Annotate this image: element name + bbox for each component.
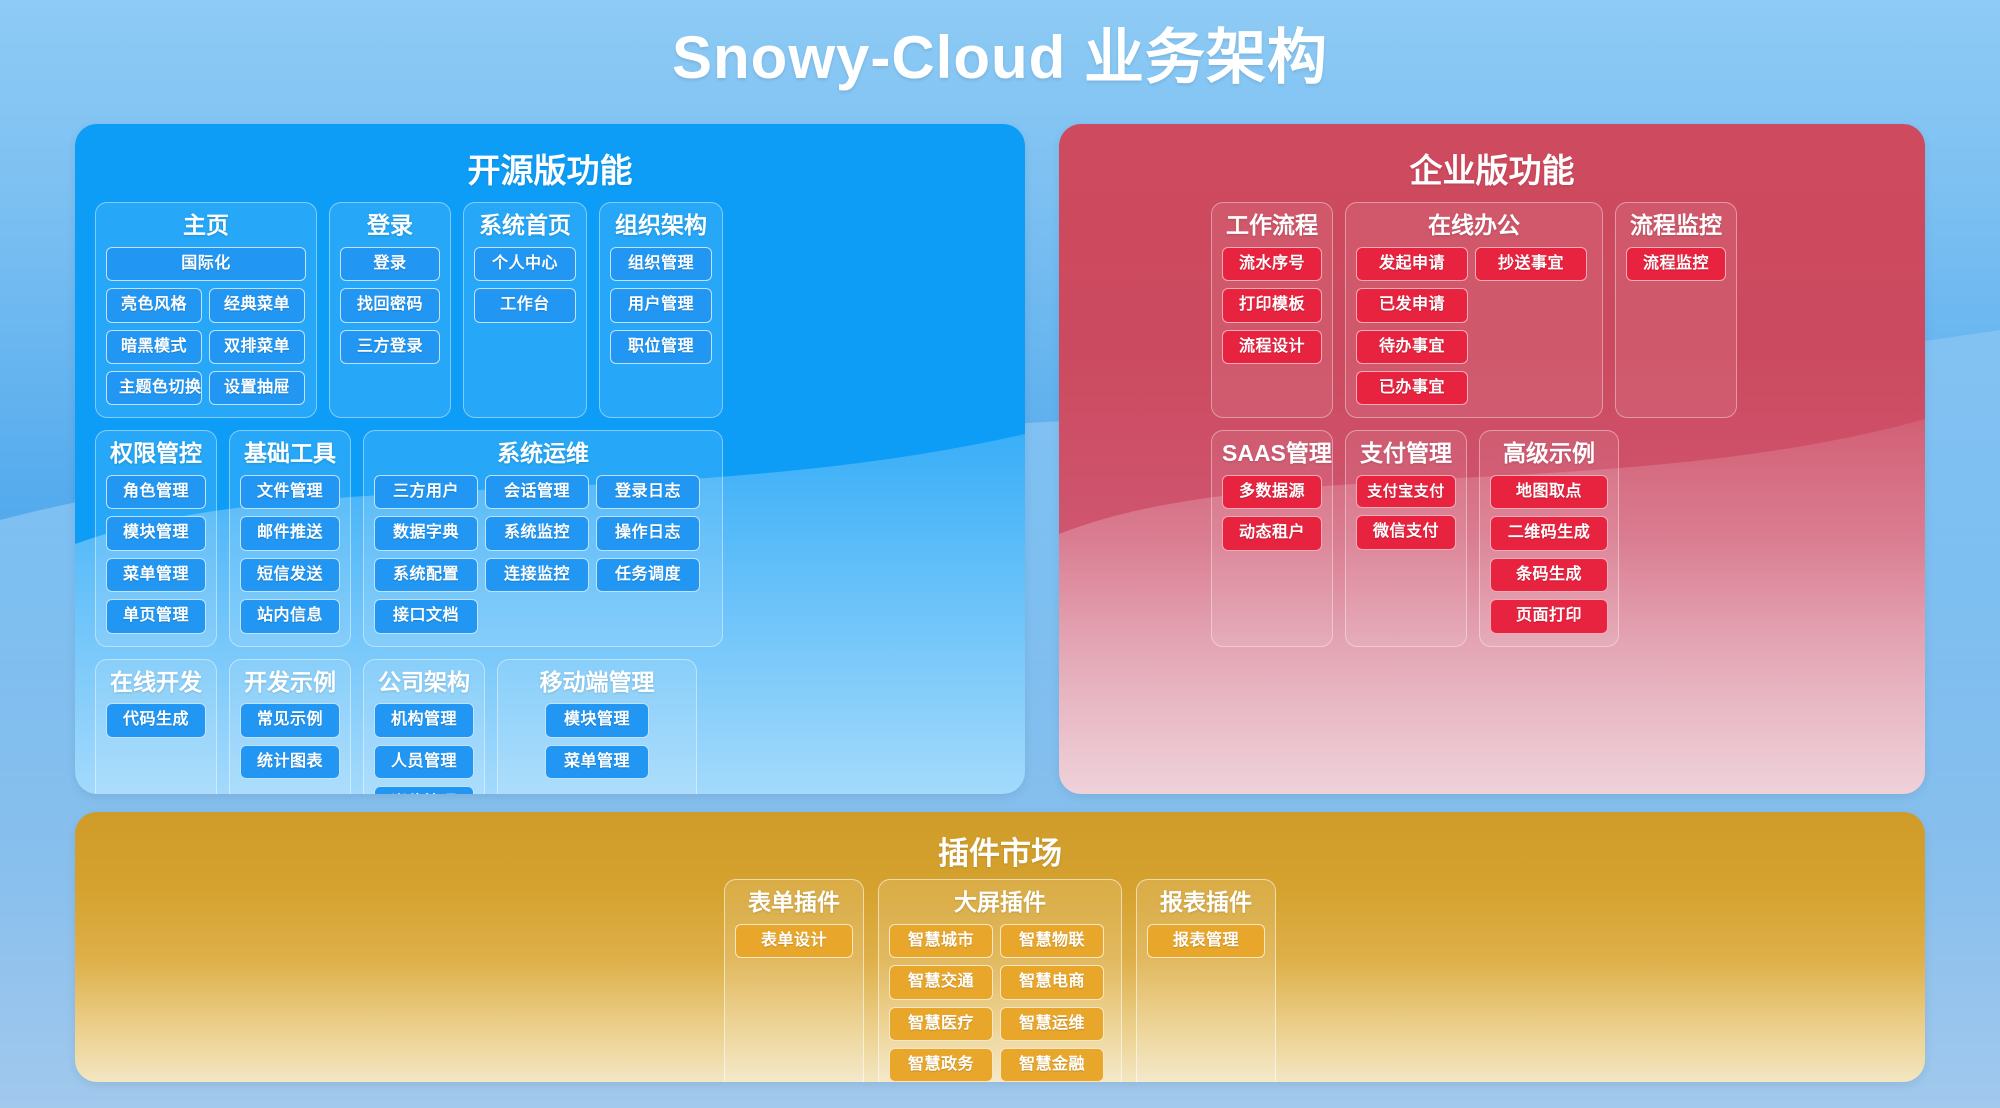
chip[interactable]: 角色管理 [106,475,206,509]
card-mobile-management: 移动端管理 模块管理 菜单管理 [497,659,697,794]
chip[interactable]: 智慧电商 [1000,965,1104,999]
enterprise-title: 企业版功能 [1059,124,1925,202]
chip[interactable]: 主题色切换 [106,371,202,405]
card-basic-tools: 基础工具 文件管理 邮件推送 短信发送 站内信息 [229,430,351,646]
chip-list: 三方用户 会话管理 登录日志 数据字典 系统监控 操作日志 系统配置 连接监控 … [374,475,712,634]
chip[interactable]: 支付宝支付 [1356,475,1456,508]
architecture-page: Snowy-Cloud 业务架构 开源版功能 主页 [0,0,2000,1108]
card-workflow: 工作流程 流水序号 打印模板 流程设计 [1211,202,1333,418]
chip[interactable]: 统计图表 [240,745,340,779]
chip[interactable]: 经典菜单 [209,288,305,322]
chip[interactable]: 待办事宜 [1356,330,1468,364]
chip[interactable]: 智慧运维 [1000,1007,1104,1041]
card-title: 主页 [106,211,306,240]
chip[interactable]: 人员管理 [374,745,474,779]
plugin-market-title: 插件市场 [75,812,1925,879]
card-company-structure: 公司架构 机构管理 人员管理 岗位管理 [363,659,485,794]
chip[interactable]: 站内信息 [240,599,340,633]
panel-open-source: 开源版功能 主页 国际化 亮色风格 经典菜单 暗黑模式 双排菜单 主题色切换 [75,124,1025,794]
chip[interactable]: 代码生成 [106,703,206,737]
chip-list: 支付宝支付 微信支付 [1356,475,1456,550]
card-title: 公司架构 [374,668,474,697]
chip-list: 常见示例 统计图表 [240,703,340,779]
enterprise-row-2: SAAS管理 多数据源 动态租户 支付管理 支付宝支付 微信支付 [1211,430,1845,646]
card-title: 支付管理 [1356,439,1456,468]
chip[interactable]: 机构管理 [374,703,474,737]
chip-list: 个人中心 工作台 [474,247,576,323]
open-source-row-3: 在线开发 代码生成 开发示例 常见示例 统计图表 公司架构 [95,659,1005,794]
card-home: 主页 国际化 亮色风格 经典菜单 暗黑模式 双排菜单 主题色切换 设置抽屉 [95,202,317,418]
chip[interactable]: 暗黑模式 [106,330,202,364]
chip[interactable]: 已办事宜 [1356,371,1468,405]
chip[interactable]: 连接监控 [485,558,589,592]
chip[interactable]: 已发申请 [1356,288,1468,322]
card-saas: SAAS管理 多数据源 动态租户 [1211,430,1333,646]
card-title: 登录 [340,211,440,240]
card-process-monitor: 流程监控 流程监控 [1615,202,1737,418]
chip[interactable]: 流程设计 [1222,330,1322,364]
chip[interactable]: 三方用户 [374,475,478,509]
chip-list: 地图取点 二维码生成 条码生成 页面打印 [1490,475,1608,634]
chip[interactable]: 接口文档 [374,599,478,633]
chip-list: 智慧城市 智慧物联 智慧交通 智慧电商 智慧医疗 智慧运维 智慧政务 智慧金融 [889,924,1111,1082]
card-organization: 组织架构 组织管理 用户管理 职位管理 [599,202,723,418]
chip[interactable]: 系统配置 [374,558,478,592]
chip-list: 报表管理 [1147,924,1265,958]
chip-list: 流水序号 打印模板 流程设计 [1222,247,1322,364]
card-title: 工作流程 [1222,211,1322,240]
chip[interactable]: 会话管理 [485,475,589,509]
chip[interactable]: 表单设计 [735,924,853,958]
chip-list: 角色管理 模块管理 菜单管理 单页管理 [106,475,206,634]
chip-list: 登录 找回密码 三方登录 [340,247,440,364]
chip[interactable]: 任务调度 [596,558,700,592]
chip[interactable]: 打印模板 [1222,288,1322,322]
card-title: 权限管控 [106,439,206,468]
chip[interactable]: 国际化 [106,247,306,281]
chip[interactable]: 模块管理 [106,516,206,550]
card-online-office: 在线办公 发起申请 抄送事宜 已发申请 待办事宜 已办事宜 [1345,202,1603,418]
card-bigscreen-plugin: 大屏插件 智慧城市 智慧物联 智慧交通 智慧电商 智慧医疗 智慧运维 智慧政务 … [878,879,1122,1082]
card-title: SAAS管理 [1222,439,1322,468]
chip[interactable]: 登录 [340,247,440,281]
chip[interactable]: 智慧城市 [889,924,993,958]
chip[interactable]: 微信支付 [1356,515,1456,549]
plugin-market-groups: 表单插件 表单设计 大屏插件 智慧城市 智慧物联 智慧交通 智慧电商 智慧医疗 … [75,879,1925,1082]
card-title: 在线开发 [106,668,206,697]
chip[interactable]: 地图取点 [1490,475,1608,509]
card-title: 系统运维 [374,439,712,468]
chip[interactable]: 职位管理 [610,330,712,364]
card-title: 在线办公 [1356,211,1592,240]
chip-list: 国际化 亮色风格 经典菜单 暗黑模式 双排菜单 主题色切换 设置抽屉 [106,247,306,406]
chip-list: 组织管理 用户管理 职位管理 [610,247,712,364]
chip[interactable]: 智慧金融 [1000,1048,1104,1082]
chip[interactable]: 用户管理 [610,288,712,322]
chip[interactable]: 设置抽屉 [209,371,305,405]
chip[interactable]: 短信发送 [240,558,340,592]
chip-list: 代码生成 [106,703,206,737]
chip-list: 文件管理 邮件推送 短信发送 站内信息 [240,475,340,634]
card-title: 组织架构 [610,211,712,240]
open-source-body: 主页 国际化 亮色风格 经典菜单 暗黑模式 双排菜单 主题色切换 设置抽屉 登录 [75,202,1025,794]
chip[interactable]: 抄送事宜 [1475,247,1587,281]
chip[interactable]: 智慧政务 [889,1048,993,1082]
chip[interactable]: 个人中心 [474,247,576,281]
chip[interactable]: 三方登录 [340,330,440,364]
card-title: 开发示例 [240,668,340,697]
chip-spacer [1475,330,1587,364]
chip[interactable]: 流程监控 [1626,247,1726,281]
chip[interactable]: 智慧医疗 [889,1007,993,1041]
chip-list: 表单设计 [735,924,853,958]
card-title: 报表插件 [1147,888,1265,917]
card-system-ops: 系统运维 三方用户 会话管理 登录日志 数据字典 系统监控 操作日志 系统配置 … [363,430,723,646]
chip-spacer [1475,288,1587,322]
card-title: 基础工具 [240,439,340,468]
open-source-title: 开源版功能 [75,124,1025,202]
card-dev-demo: 开发示例 常见示例 统计图表 [229,659,351,794]
card-form-plugin: 表单插件 表单设计 [724,879,864,1082]
chip[interactable]: 常见示例 [240,703,340,737]
chip[interactable]: 智慧物联 [1000,924,1104,958]
card-title: 高级示例 [1490,439,1608,468]
panel-plugin-market: 插件市场 表单插件 表单设计 大屏插件 智慧城市 智慧物联 智慧交通 智慧电商 … [75,812,1925,1082]
chip[interactable]: 登录日志 [596,475,700,509]
chip[interactable]: 数据字典 [374,516,478,550]
chip[interactable]: 条码生成 [1490,558,1608,592]
chip[interactable]: 工作台 [474,288,576,322]
panel-enterprise: 企业版功能 工作流程 流水序号 打印模板 流程设计 在线办公 [1059,124,1925,794]
enterprise-body: 工作流程 流水序号 打印模板 流程设计 在线办公 发起申请 抄送事宜 已发申请 [1059,202,1925,679]
card-title: 表单插件 [735,888,853,917]
chip[interactable]: 动态租户 [1222,516,1322,550]
chip[interactable]: 亮色风格 [106,288,202,322]
card-title: 系统首页 [474,211,576,240]
top-panels: 开源版功能 主页 国际化 亮色风格 经典菜单 暗黑模式 双排菜单 主题色切换 [75,124,1925,794]
chip[interactable]: 多数据源 [1222,475,1322,509]
chip[interactable]: 操作日志 [596,516,700,550]
card-permission: 权限管控 角色管理 模块管理 菜单管理 单页管理 [95,430,217,646]
open-source-row-2: 权限管控 角色管理 模块管理 菜单管理 单页管理 基础工具 文件管理 邮件推送 [95,430,1005,646]
card-online-dev: 在线开发 代码生成 [95,659,217,794]
chip[interactable]: 流水序号 [1222,247,1322,281]
chip-list: 发起申请 抄送事宜 已发申请 待办事宜 已办事宜 [1356,247,1592,406]
chip[interactable]: 二维码生成 [1490,516,1608,550]
chip[interactable]: 双排菜单 [209,330,305,364]
chip[interactable]: 组织管理 [610,247,712,281]
chip[interactable]: 发起申请 [1356,247,1468,281]
card-login: 登录 登录 找回密码 三方登录 [329,202,451,418]
page-title: Snowy-Cloud 业务架构 [0,0,2000,88]
chip[interactable]: 找回密码 [340,288,440,322]
chip[interactable]: 岗位管理 [374,786,474,794]
chip[interactable]: 文件管理 [240,475,340,509]
card-advanced-demo: 高级示例 地图取点 二维码生成 条码生成 页面打印 [1479,430,1619,646]
card-system-home: 系统首页 个人中心 工作台 [463,202,587,418]
card-payment: 支付管理 支付宝支付 微信支付 [1345,430,1467,646]
chip[interactable]: 报表管理 [1147,924,1265,958]
enterprise-row-1: 工作流程 流水序号 打印模板 流程设计 在线办公 发起申请 抄送事宜 已发申请 [1211,202,1845,418]
chip-list: 流程监控 [1626,247,1726,281]
chip[interactable]: 模块管理 [545,703,649,737]
chip[interactable]: 系统监控 [485,516,589,550]
chip[interactable]: 邮件推送 [240,516,340,550]
chip[interactable]: 菜单管理 [106,558,206,592]
chip[interactable]: 菜单管理 [545,745,649,779]
chip-list: 机构管理 人员管理 岗位管理 [374,703,474,794]
chip[interactable]: 智慧交通 [889,965,993,999]
chip[interactable]: 页面打印 [1490,599,1608,633]
chip-list: 多数据源 动态租户 [1222,475,1322,551]
chip[interactable]: 单页管理 [106,599,206,633]
chip-list: 模块管理 菜单管理 [508,703,686,779]
card-title: 移动端管理 [508,668,686,697]
card-title: 流程监控 [1626,211,1726,240]
card-title: 大屏插件 [889,888,1111,917]
card-report-plugin: 报表插件 报表管理 [1136,879,1276,1082]
open-source-row-1: 主页 国际化 亮色风格 经典菜单 暗黑模式 双排菜单 主题色切换 设置抽屉 登录 [95,202,1005,418]
